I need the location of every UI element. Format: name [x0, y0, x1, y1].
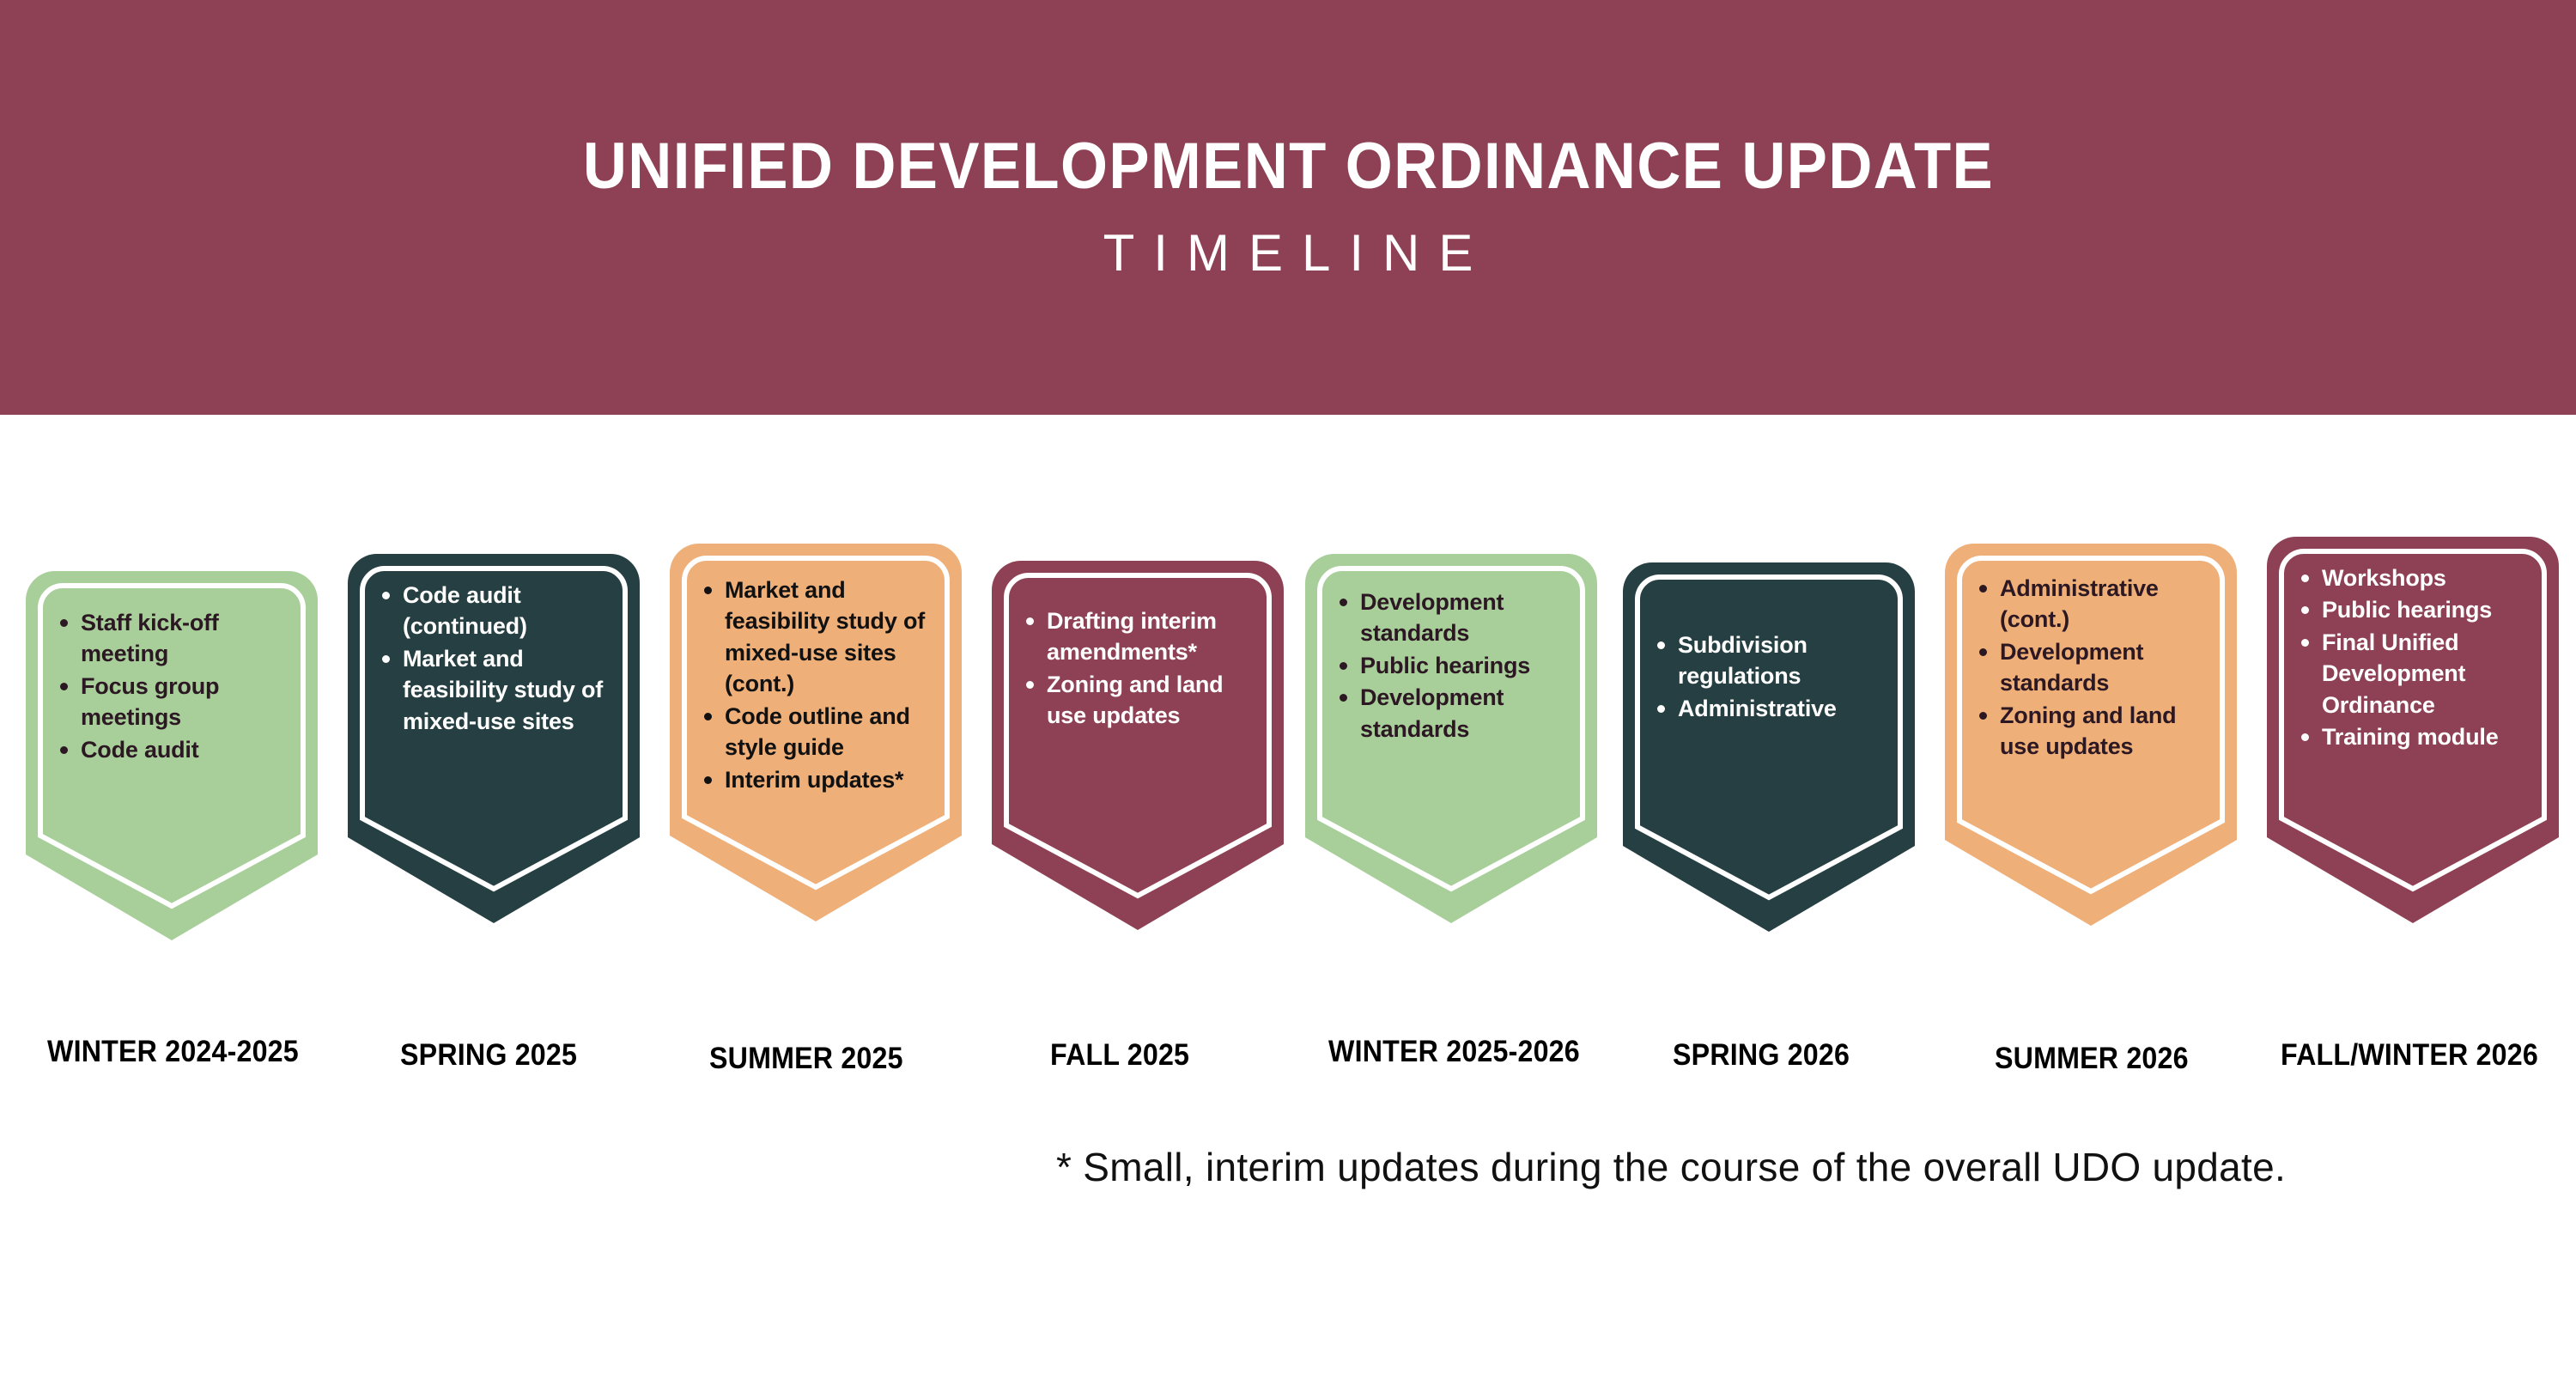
phase-bullet-item: Drafting interim amendments* — [1021, 605, 1261, 668]
phase-bullet-item: Code audit (continued) — [377, 580, 617, 642]
phase-season-label: FALL/WINTER 2026 — [2281, 1038, 2538, 1073]
shield-shape — [1623, 562, 1915, 932]
header-banner: UNIFIED DEVELOPMENT ORDINANCE UPDATE TIM… — [0, 0, 2576, 415]
phase-bullet-item: Public hearings — [2296, 594, 2537, 625]
phase-bullet-list: Development standardsPublic hearingsDeve… — [1305, 587, 1597, 745]
phase-bullet-item: Public hearings — [1334, 650, 1575, 681]
phase-bullet-item: Development standards — [1334, 682, 1575, 745]
timeline-phase-card[interactable]: Drafting interim amendments*Zoning and l… — [992, 561, 1284, 930]
phase-bullet-item: Focus group meetings — [55, 671, 295, 733]
phase-bullet-list: Administrative (cont.)Development standa… — [1945, 573, 2237, 763]
timeline-phase-card[interactable]: Development standardsPublic hearingsDeve… — [1305, 554, 1597, 923]
phase-season-label: SPRING 2026 — [1673, 1038, 1850, 1073]
phase-bullet-item: Development standards — [1974, 636, 2215, 699]
phase-bullet-item: Code audit — [55, 734, 295, 765]
phase-bullet-item: Code outline and style guide — [699, 701, 939, 763]
phase-bullet-item: Development standards — [1334, 587, 1575, 649]
phase-bullet-item: Zoning and land use updates — [1974, 700, 2215, 763]
timeline-phase-card[interactable]: Subdivision regulationsAdministrative — [1623, 562, 1915, 932]
phase-bullet-item: Market and feasibility study of mixed-us… — [377, 643, 617, 737]
phase-bullet-list: Drafting interim amendments*Zoning and l… — [992, 605, 1284, 733]
timeline-phase-card[interactable]: Staff kick-off meetingFocus group meetin… — [26, 571, 318, 940]
footnote-text: * Small, interim updates during the cour… — [1056, 1144, 2286, 1190]
phase-season-label: SPRING 2025 — [400, 1038, 577, 1073]
page-title: UNIFIED DEVELOPMENT ORDINANCE UPDATE — [582, 132, 1993, 201]
phase-bullet-list: Staff kick-off meetingFocus group meetin… — [26, 607, 318, 766]
shield-fill — [1623, 562, 1915, 932]
timeline-phase-card[interactable]: Administrative (cont.)Development standa… — [1945, 544, 2237, 926]
phase-bullet-item: Administrative — [1652, 693, 1893, 724]
phase-bullet-item: Interim updates* — [699, 764, 939, 795]
phase-bullet-item: Staff kick-off meeting — [55, 607, 295, 670]
phase-season-label: FALL 2025 — [1050, 1038, 1189, 1073]
phase-bullet-item: Final Unified Development Ordinance — [2296, 627, 2537, 720]
phase-season-label: SUMMER 2026 — [1995, 1042, 2189, 1076]
timeline-row: Staff kick-off meetingFocus group meetin… — [0, 415, 2576, 1136]
phase-bullet-item: Zoning and land use updates — [1021, 669, 1261, 732]
phase-bullet-list: Code audit (continued)Market and feasibi… — [348, 580, 640, 738]
timeline-phase-card[interactable]: WorkshopsPublic hearingsFinal Unified De… — [2267, 537, 2559, 923]
phase-season-label: SUMMER 2025 — [709, 1042, 903, 1076]
timeline-phase-card[interactable]: Market and feasibility study of mixed-us… — [670, 544, 962, 921]
infographic-page: UNIFIED DEVELOPMENT ORDINANCE UPDATE TIM… — [0, 0, 2576, 1374]
phase-season-label: WINTER 2025-2026 — [1328, 1035, 1580, 1069]
phase-bullet-item: Subdivision regulations — [1652, 629, 1893, 692]
phase-bullet-item: Training module — [2296, 721, 2537, 752]
phase-season-label: WINTER 2024-2025 — [47, 1035, 299, 1069]
phase-bullet-item: Workshops — [2296, 562, 2537, 593]
phase-bullet-list: Market and feasibility study of mixed-us… — [670, 575, 962, 796]
phase-bullet-item: Administrative (cont.) — [1974, 573, 2215, 635]
timeline-phase-card[interactable]: Code audit (continued)Market and feasibi… — [348, 554, 640, 923]
phase-bullet-item: Market and feasibility study of mixed-us… — [699, 575, 939, 700]
phase-bullet-list: Subdivision regulationsAdministrative — [1623, 629, 1915, 725]
page-subtitle: TIMELINE — [1084, 223, 1492, 283]
phase-bullet-list: WorkshopsPublic hearingsFinal Unified De… — [2267, 562, 2559, 754]
